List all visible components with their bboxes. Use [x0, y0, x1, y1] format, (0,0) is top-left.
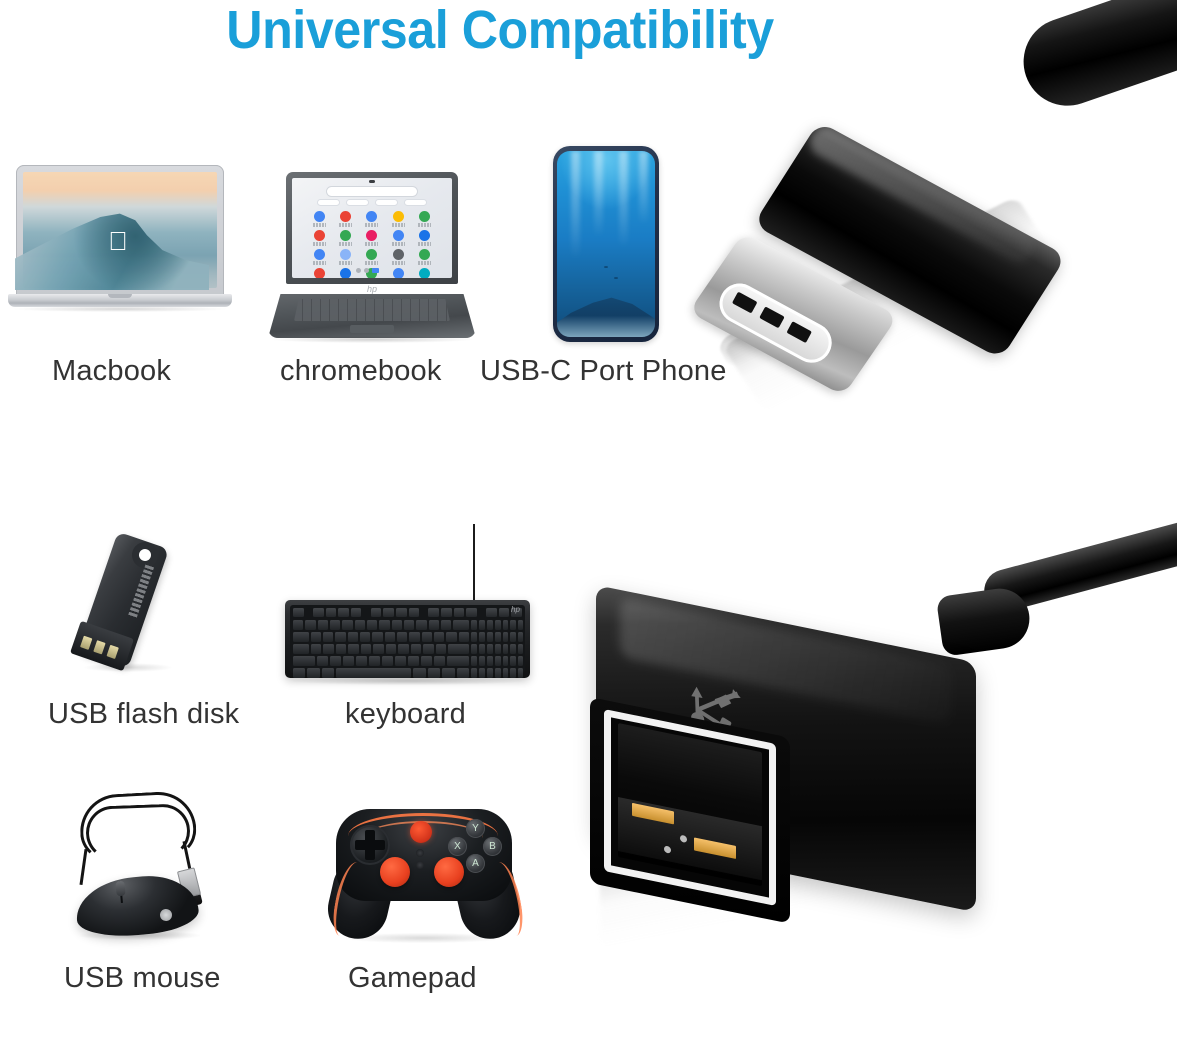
- chromeos-app-icon: [314, 268, 325, 278]
- keyboard-row: [495, 632, 523, 642]
- keyboard-key: [518, 620, 524, 630]
- keyboard-key: [510, 644, 516, 654]
- keyboard-key: [386, 644, 396, 654]
- keyboard-key: [421, 656, 432, 666]
- keyboard-key: [479, 620, 485, 630]
- chromeos-app-icon: [340, 268, 351, 278]
- hp-logo-icon: hp: [511, 606, 522, 614]
- keyboard-numpad-block: [495, 620, 523, 680]
- mouse-cable-lead: [80, 849, 88, 885]
- macbook-notch: [108, 294, 132, 298]
- chromeos-app-label: [313, 223, 326, 227]
- chromeos-app-icon: [419, 268, 430, 278]
- keyboard-row: [471, 632, 493, 642]
- keyboard-key: [495, 644, 501, 654]
- label-phone: USB-C Port Phone: [480, 355, 727, 388]
- keyboard-key: [446, 632, 456, 642]
- chromeos-app-label: [313, 242, 326, 246]
- gamepad-analog-stick-left: [380, 857, 410, 887]
- label-flash-disk: USB flash disk: [48, 698, 239, 731]
- label-gamepad: Gamepad: [348, 962, 477, 995]
- contact-pin: [93, 640, 105, 654]
- function-key: [351, 608, 362, 617]
- keyboard-key: [311, 632, 321, 642]
- function-key: [383, 608, 394, 617]
- keyboard-key: [397, 632, 407, 642]
- page-dot-active: [372, 268, 379, 273]
- chromeos-app-icon: [314, 230, 325, 241]
- chromeos-app-label: [392, 223, 405, 227]
- keyboard-shadow: [293, 677, 522, 685]
- chromeos-app-icon: [366, 249, 377, 260]
- keyboard-key: [429, 620, 439, 630]
- keyboard-key: [448, 644, 469, 654]
- function-key: [396, 608, 407, 617]
- function-key: [293, 608, 304, 617]
- keyboard-key: [323, 632, 333, 642]
- keyboard-key: [293, 632, 309, 642]
- apple-logo-icon: : [106, 227, 130, 255]
- contact-pin: [106, 645, 118, 659]
- chromeos-app-icon: [340, 211, 351, 222]
- keyboard-key: [361, 644, 371, 654]
- function-key: [466, 608, 477, 617]
- chromeos-app-label: [392, 242, 405, 246]
- keyboard-key: [518, 656, 524, 666]
- chromeos-app-label: [365, 223, 378, 227]
- keyboard-nav-block: [471, 620, 493, 680]
- keyboard-key: [305, 620, 315, 630]
- contact-pin: [80, 636, 92, 650]
- device-chromebook: hp: [268, 172, 476, 344]
- keyboard-row: [293, 620, 469, 630]
- keyboard-row: [495, 644, 523, 654]
- keyboard-key: [479, 656, 485, 666]
- chromeos-page-dots: [356, 268, 379, 273]
- keyboard-key: [487, 644, 493, 654]
- page-dot: [364, 268, 369, 273]
- function-key: [428, 608, 439, 617]
- usb-c-cable: [1012, 0, 1177, 118]
- phone-display: [557, 151, 655, 337]
- keyboard-key: [487, 620, 493, 630]
- keyboard-key: [495, 632, 501, 642]
- keyboard-key: [379, 620, 389, 630]
- device-gamepad: Y X B A: [330, 795, 520, 945]
- chromeos-app-icon: [419, 230, 430, 241]
- chromeos-app-icon: [419, 211, 430, 222]
- keyboard-key: [471, 632, 477, 642]
- device-phone: [553, 146, 663, 346]
- keyboard-key: [434, 656, 445, 666]
- label-macbook: Macbook: [52, 355, 171, 388]
- chromeos-app-label: [418, 223, 431, 227]
- gamepad-button-x: X: [448, 837, 467, 856]
- keyboard-key: [416, 620, 426, 630]
- keyboard-row: [293, 632, 469, 642]
- device-mouse: [68, 785, 213, 945]
- keyboard-key: [479, 632, 485, 642]
- usb-a-strain-relief: [936, 585, 1033, 657]
- seafloor: [557, 281, 655, 337]
- spacer: [306, 608, 311, 617]
- macbook-shadow: [14, 306, 226, 312]
- chromeos-suggestion-chips: [318, 200, 427, 205]
- chromeos-app-icon: [393, 249, 404, 260]
- fish: [614, 277, 618, 279]
- keyboard-key: [411, 644, 421, 654]
- chip: [318, 200, 340, 205]
- chromeos-app-icon: [366, 230, 377, 241]
- usb-a-female-adapter: [560, 555, 1177, 985]
- keyboard-key: [471, 644, 477, 654]
- chromebook-trackpad: [350, 325, 394, 333]
- keyboard-key: [356, 656, 367, 666]
- chromebook-shadow: [272, 336, 472, 343]
- keyboard-key: [335, 632, 345, 642]
- chromeos-app-label: [339, 242, 352, 246]
- keyboard-key: [392, 620, 402, 630]
- keyboard-key: [487, 632, 493, 642]
- phone-body: [553, 146, 659, 342]
- light-ray: [639, 151, 648, 225]
- keyboard-key: [342, 620, 352, 630]
- keyboard-key: [447, 656, 469, 666]
- light-ray: [594, 151, 603, 237]
- keyboard-key: [423, 644, 433, 654]
- contact-slot: [759, 306, 785, 328]
- keyboard-key: [343, 656, 354, 666]
- keyboard-key: [311, 644, 321, 654]
- chromeos-app-label: [365, 261, 378, 265]
- device-macbook: : [8, 165, 238, 315]
- label-chromebook: chromebook: [280, 355, 442, 388]
- chromebook-keyboard: [294, 299, 450, 321]
- spacer: [363, 608, 368, 617]
- gamepad-button-y: Y: [466, 819, 485, 838]
- chromeos-app-label: [339, 223, 352, 227]
- keyboard-row: [495, 620, 523, 630]
- keyboard-function-row: [293, 608, 522, 617]
- chromeos-app-label: [365, 242, 378, 246]
- chromeos-app-icon: [393, 268, 404, 278]
- chromeos-app-label: [418, 242, 431, 246]
- function-key: [441, 608, 452, 617]
- function-key: [499, 608, 510, 617]
- keyboard-key: [453, 620, 469, 630]
- keyboard-row: [293, 656, 469, 666]
- chromebook-display: [292, 178, 452, 278]
- keyboard-key: [510, 620, 516, 630]
- function-key: [338, 608, 349, 617]
- label-keyboard: keyboard: [345, 698, 466, 731]
- chromebook-lid: [286, 172, 458, 284]
- keyboard-key: [518, 632, 524, 642]
- keyboard-key: [395, 656, 406, 666]
- chromeos-app-label: [418, 261, 431, 265]
- keyboard-key: [422, 632, 432, 642]
- keyboard-key: [471, 656, 477, 666]
- keyboard-key: [503, 644, 509, 654]
- flash-drive-shadow: [84, 663, 172, 672]
- keyboard-key: [330, 620, 340, 630]
- keyboard-key: [409, 632, 419, 642]
- keyboard-key: [398, 644, 408, 654]
- keyboard-key: [408, 656, 419, 666]
- gamepad-home-button: [410, 821, 432, 843]
- keyboard-key: [293, 644, 309, 654]
- keyboard-key: [479, 644, 485, 654]
- contact-slot: [787, 321, 813, 343]
- keyboard-row: [293, 644, 469, 654]
- keyboard-key: [495, 620, 501, 630]
- usb-c-connector: [700, 46, 1177, 436]
- keyboard-key: [518, 644, 524, 654]
- keyboard-key: [336, 644, 346, 654]
- keyboard-key: [382, 656, 393, 666]
- keyboard-row: [471, 656, 493, 666]
- gamepad-dpad: [350, 825, 390, 865]
- keyboard-key: [495, 656, 501, 666]
- contact-slot: [732, 291, 758, 313]
- chromeos-app-label: [392, 261, 405, 265]
- gamepad-button-b: B: [483, 837, 502, 856]
- keyboard-key: [487, 656, 493, 666]
- device-keyboard: hp: [285, 580, 530, 686]
- keyboard-key: [355, 620, 365, 630]
- chip: [376, 200, 398, 205]
- keyboard-key: [503, 620, 509, 630]
- keyboard-main-block: [293, 620, 469, 680]
- keyboard-key: [360, 632, 370, 642]
- keyboard-key: [293, 620, 303, 630]
- mouse-cable-loop-inner: [85, 803, 191, 861]
- function-key: [454, 608, 465, 617]
- chromeos-app-label: [339, 261, 352, 265]
- keyboard-key: [348, 632, 358, 642]
- function-key: [313, 608, 324, 617]
- keyboard-key: [367, 620, 377, 630]
- light-ray: [571, 151, 580, 259]
- chromeos-app-icon: [314, 249, 325, 260]
- keyboard-row: [495, 656, 523, 666]
- webcam-icon: [369, 180, 375, 183]
- keyboard-key: [459, 632, 469, 642]
- keyboard-key: [441, 620, 451, 630]
- chromeos-app-icon: [419, 249, 430, 260]
- keyboard-key: [436, 644, 446, 654]
- fish: [604, 266, 608, 268]
- keyboard-key: [348, 644, 358, 654]
- keyboard-key: [434, 632, 444, 642]
- device-flash-drive: [78, 525, 188, 675]
- gamepad-start-button: [416, 861, 424, 869]
- keyboard-key: [503, 656, 509, 666]
- gamepad-button-a: A: [466, 854, 485, 873]
- mouse-scroll-wheel: [115, 881, 125, 897]
- hp-logo-icon: hp: [365, 284, 379, 294]
- keyboard-key: [471, 620, 477, 630]
- keyboard-key: [317, 656, 328, 666]
- keyboard-row: [471, 620, 493, 630]
- chromeos-app-icon: [340, 249, 351, 260]
- keyboard-row: [471, 644, 493, 654]
- function-key: [371, 608, 382, 617]
- keyboard-key: [372, 632, 382, 642]
- gamepad-select-button: [416, 849, 424, 857]
- label-mouse: USB mouse: [64, 962, 221, 995]
- function-key: [409, 608, 420, 617]
- keyboard-cable: [473, 524, 475, 602]
- spacer: [479, 608, 484, 617]
- chromeos-app-icon: [393, 230, 404, 241]
- chromeos-app-label: [313, 261, 326, 265]
- function-key: [486, 608, 497, 617]
- page-dot: [356, 268, 361, 273]
- chromeos-app-icon: [366, 211, 377, 222]
- function-key: [326, 608, 337, 617]
- spacer: [421, 608, 426, 617]
- keyboard-key: [318, 620, 328, 630]
- light-ray: [619, 151, 628, 248]
- keyboard-key: [330, 656, 341, 666]
- chromeos-app-icon: [393, 211, 404, 222]
- chromeos-search-bar: [327, 187, 417, 196]
- chip: [405, 200, 427, 205]
- chromeos-app-icon: [314, 211, 325, 222]
- chip: [347, 200, 369, 205]
- keyboard-key: [369, 656, 380, 666]
- keyboard-key: [404, 620, 414, 630]
- keyboard-key: [385, 632, 395, 642]
- gamepad-face-buttons: Y X B A: [448, 819, 502, 873]
- keyboard-key: [510, 632, 516, 642]
- keyboard-key: [373, 644, 383, 654]
- keyboard-key: [323, 644, 333, 654]
- keyboard-key: [510, 656, 516, 666]
- keyboard-key: [503, 632, 509, 642]
- keyboard-key: [293, 656, 315, 666]
- chromeos-app-icon: [340, 230, 351, 241]
